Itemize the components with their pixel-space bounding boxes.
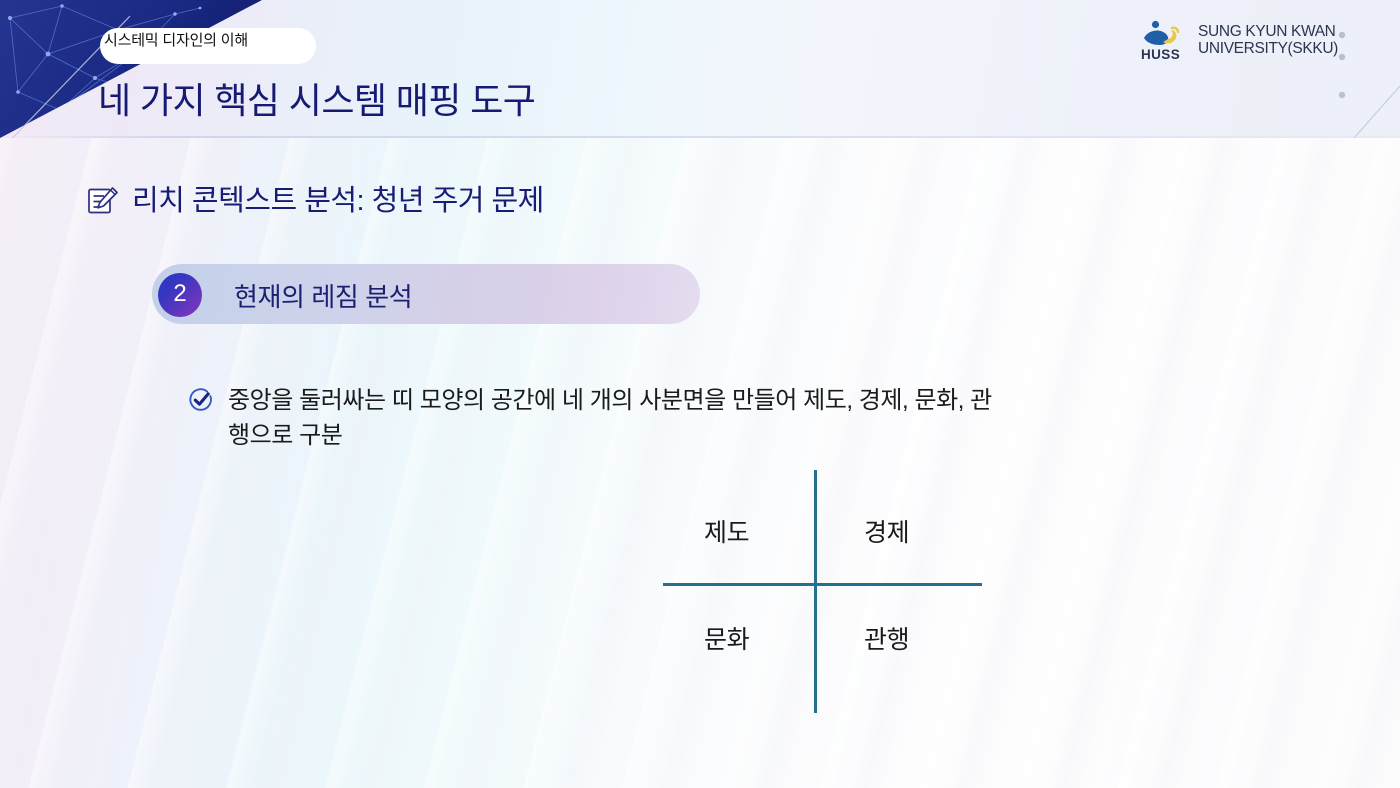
quadrant-label-top-left: 제도 [704,518,749,548]
bullet-text: 중앙을 둘러싸는 띠 모양의 공간에 네 개의 사분면을 만들어 제도, 경제,… [228,383,1008,453]
subtitle-label: 리치 콘텍스트 분석: 청년 주거 문제 [132,182,544,220]
section-title: 현재의 레짐 분석 [234,281,412,313]
svg-text:HUSS: HUSS [1141,47,1180,62]
quadrant-label-top-right: 경제 [864,518,909,548]
quadrant-label-bottom-right: 관행 [864,625,909,655]
section-number-badge: 2 [158,273,202,317]
header-decoration-dots [1320,0,1400,138]
page-title: 네 가지 핵심 시스템 매핑 도구 [98,78,535,124]
university-name-line2: UNIVERSITY(SKKU) [1198,40,1338,58]
university-name-line1: SUNG KYUN KWAN [1198,23,1335,40]
university-logo: HUSS SUNG KYUN KWAN UNIVERSITY(SKKU) [1141,18,1338,62]
section-number: 2 [173,282,186,306]
quadrant-horizontal-axis [663,583,982,586]
bullet-item: 중앙을 둘러싸는 띠 모양의 공간에 네 개의 사분면을 만들어 제도, 경제,… [188,383,1008,453]
memo-pencil-icon [86,184,120,218]
presentation-slide: 시스테믹 디자인의 이해 네 가지 핵심 시스템 매핑 도구 HUSS SUNG… [0,0,1400,788]
quadrant-label-bottom-left: 문화 [704,625,749,655]
quadrant-vertical-axis [814,470,817,713]
header-divider [0,136,1400,138]
university-name: SUNG KYUN KWAN UNIVERSITY(SKKU) [1198,23,1338,58]
quadrant-diagram: 제도 경제 문화 관행 [655,462,989,714]
slide-header: 시스테믹 디자인의 이해 네 가지 핵심 시스템 매핑 도구 HUSS SUNG… [0,0,1400,138]
check-circle-icon [188,387,214,413]
eyebrow-label: 시스테믹 디자인의 이해 [104,30,312,51]
subtitle-row: 리치 콘텍스트 분석: 청년 주거 문제 [86,182,544,220]
huss-logo-mark-icon: HUSS [1141,18,1187,62]
